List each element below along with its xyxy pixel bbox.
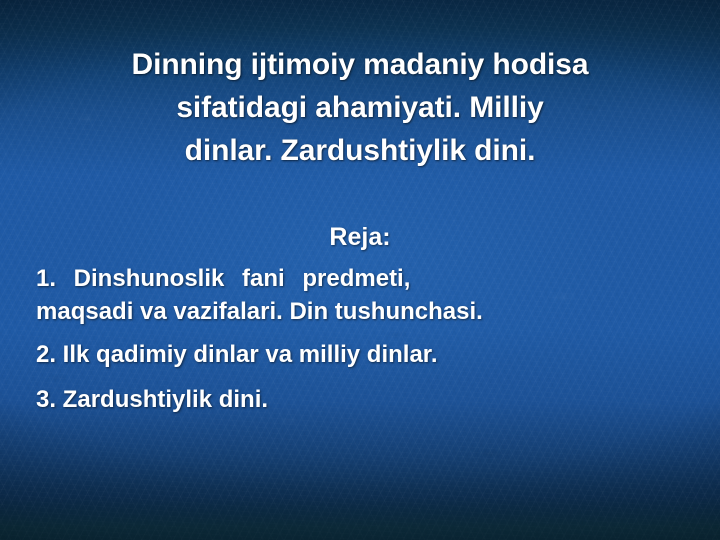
slide-title-line-3: dinlar. Zardushtiylik dini. bbox=[28, 130, 692, 173]
plan-list-item-2: 2. Ilk qadimiy dinlar va milliy dinlar. bbox=[36, 338, 690, 371]
plan-list-item-1-line-2: maqsadi va vazifalari. Din tushunchasi. bbox=[36, 295, 690, 328]
plan-list-item-3-line-1: 3. Zardushtiylik dini. bbox=[36, 383, 690, 416]
plan-list: 1. Dinshunoslik fani predmeti, maqsadi v… bbox=[36, 262, 690, 428]
slide-content: Dinning ijtimoiy madaniy hodisa sifatida… bbox=[0, 0, 720, 540]
slide-title-line-2: sifatidagi ahamiyati. Milliy bbox=[28, 87, 692, 130]
slide-title: Dinning ijtimoiy madaniy hodisa sifatida… bbox=[28, 44, 692, 173]
plan-list-item-3: 3. Zardushtiylik dini. bbox=[36, 383, 690, 416]
slide-title-line-1: Dinning ijtimoiy madaniy hodisa bbox=[28, 44, 692, 87]
presentation-slide: Dinning ijtimoiy madaniy hodisa sifatida… bbox=[0, 0, 720, 540]
plan-list-item-1-line-1: 1. Dinshunoslik fani predmeti, bbox=[36, 262, 690, 295]
plan-list-item-1: 1. Dinshunoslik fani predmeti, maqsadi v… bbox=[36, 262, 690, 328]
plan-heading: Reja: bbox=[0, 222, 720, 252]
plan-list-item-2-line-1: 2. Ilk qadimiy dinlar va milliy dinlar. bbox=[36, 338, 690, 371]
